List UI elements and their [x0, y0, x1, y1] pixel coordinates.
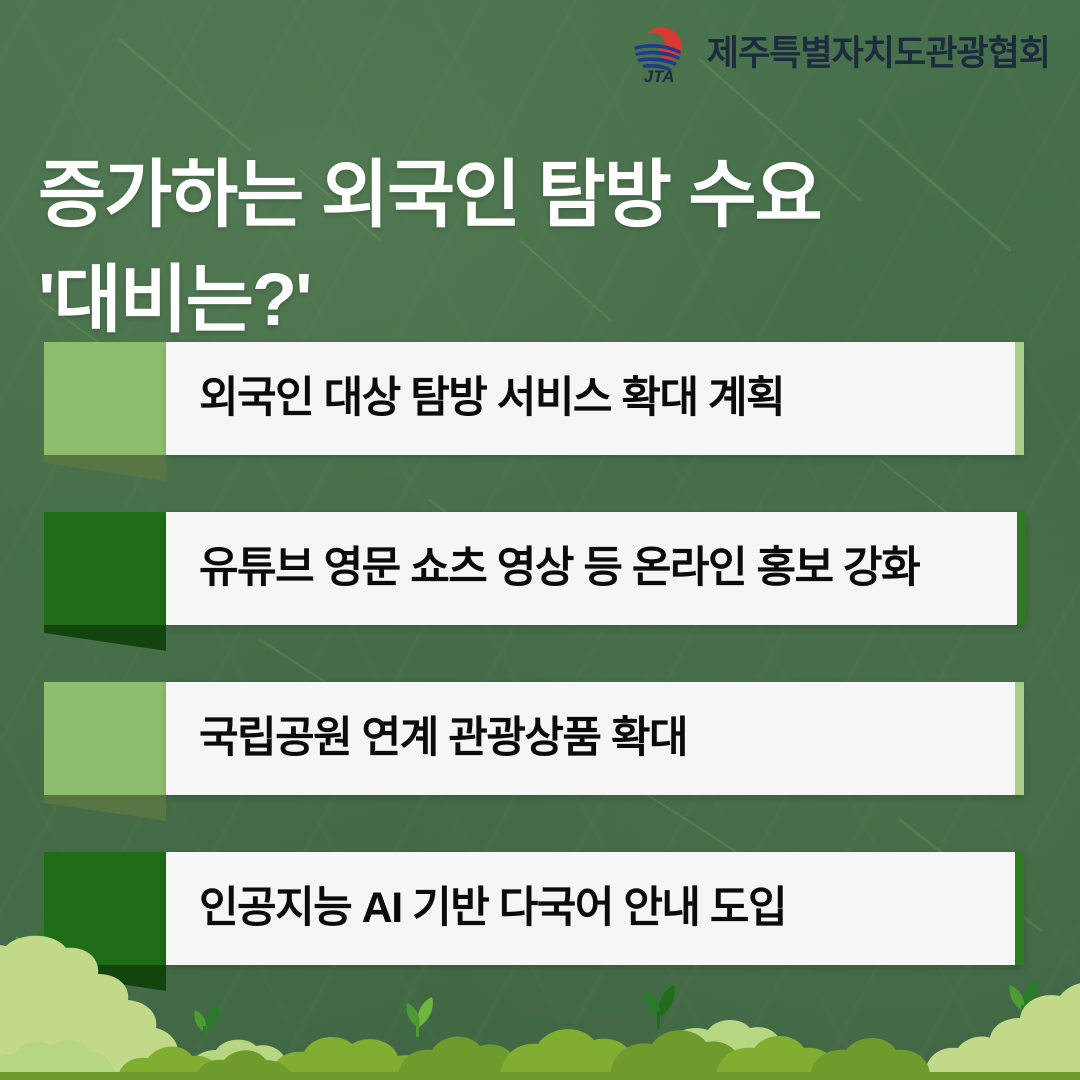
- card-edge-stripe: [1017, 512, 1026, 625]
- association-name: 제주특별자치도관광협회: [707, 36, 1050, 71]
- list-item: 국립공원 연계 관광상품 확대: [0, 682, 1080, 852]
- ribbon-fold: [44, 455, 166, 491]
- card-edge-stripe: [1015, 342, 1024, 455]
- title-line-1: 증가하는 외국인 탐방 수요: [38, 142, 1018, 247]
- measure-label: 외국인 대상 탐방 서비스 확대 계획: [166, 377, 814, 420]
- list-item: 유튜브 영문 쇼츠 영상 등 온라인 홍보 강화: [0, 512, 1080, 682]
- measure-card[interactable]: 인공지능 AI 기반 다국어 안내 도입: [166, 852, 1024, 965]
- list-item: 외국인 대상 탐방 서비스 확대 계획: [0, 342, 1080, 512]
- measure-label: 국립공원 연계 관광상품 확대: [166, 717, 717, 760]
- card-edge-stripe: [1015, 682, 1024, 795]
- ribbon-fold: [44, 965, 166, 1001]
- association-logo: JTA 제주특별자치도관광협회: [623, 22, 1050, 84]
- measure-label: 인공지능 AI 기반 다국어 안내 도입: [166, 887, 816, 930]
- ribbon-tab: [44, 852, 166, 965]
- list-item: 인공지능 AI 기반 다국어 안내 도입: [0, 852, 1080, 1022]
- svg-text:JTA: JTA: [643, 67, 674, 84]
- measure-label: 유튜브 영문 쇼츠 영상 등 온라인 홍보 강화: [166, 547, 949, 590]
- ribbon-tab: [44, 342, 166, 455]
- card-edge-stripe: [1015, 852, 1024, 965]
- measure-card[interactable]: 외국인 대상 탐방 서비스 확대 계획: [166, 342, 1024, 455]
- measure-card[interactable]: 유튜브 영문 쇼츠 영상 등 온라인 홍보 강화: [166, 512, 1026, 625]
- ribbon-fold: [44, 795, 166, 831]
- ribbon-tab: [44, 682, 166, 795]
- ribbon-fold: [44, 625, 166, 661]
- measure-card[interactable]: 국립공원 연계 관광상품 확대: [166, 682, 1024, 795]
- jta-logo-mark: JTA: [623, 22, 695, 84]
- measure-list: 외국인 대상 탐방 서비스 확대 계획 유튜브 영문 쇼츠 영상 등 온라인 홍…: [0, 342, 1080, 1022]
- page-title: 증가하는 외국인 탐방 수요 '대비는?': [38, 142, 1018, 352]
- ribbon-tab: [44, 512, 166, 625]
- title-line-2: '대비는?': [38, 247, 1018, 352]
- poster-canvas: JTA 제주특별자치도관광협회 증가하는 외국인 탐방 수요 '대비는?' 외국…: [0, 0, 1080, 1080]
